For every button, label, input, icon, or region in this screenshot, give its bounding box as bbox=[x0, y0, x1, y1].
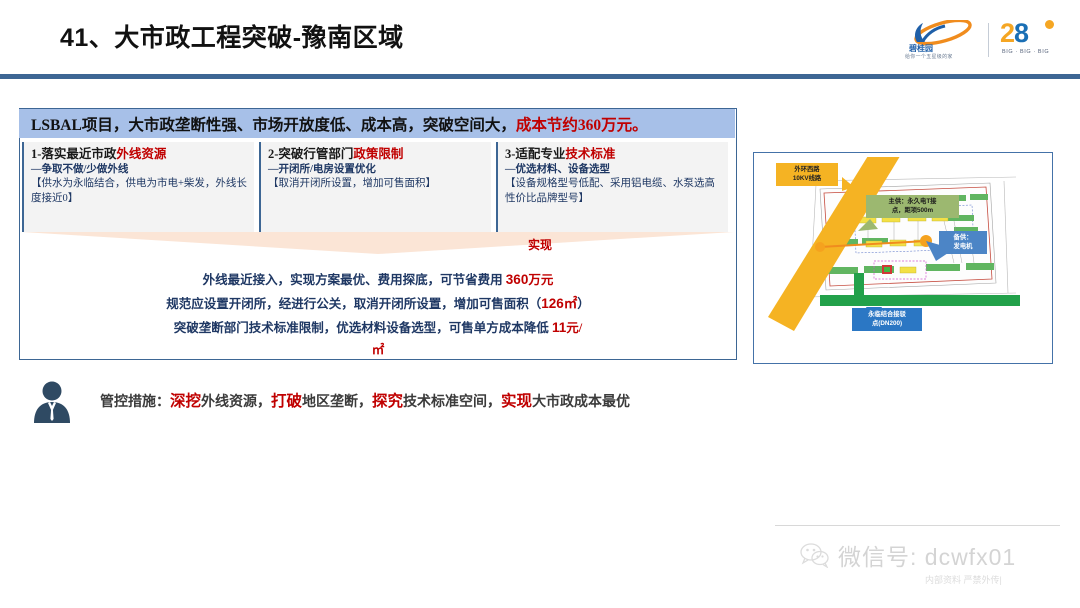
column-heading-plain: 1-落实最近市政 bbox=[31, 147, 116, 161]
mark-tag: BIG · BIG · BIG bbox=[1002, 49, 1049, 55]
column-subtitle: —开闭所/电房设置优化 bbox=[268, 162, 485, 177]
result-number: 360 bbox=[506, 272, 529, 287]
wechat-icon bbox=[800, 542, 830, 568]
result-line: ㎡ bbox=[22, 340, 734, 362]
watermark-divider bbox=[775, 525, 1060, 526]
wechat-id: 微信号: dcwfx01 bbox=[838, 538, 1016, 572]
column-body: 【供水为永临结合，供电为市电+柴发，外线长度接近0】 bbox=[31, 177, 248, 207]
achieve-results: 外线最近接入，实现方案最优、费用探底，可节省费用 360万元 规范应设置开闭所，… bbox=[22, 268, 734, 362]
column-body: 【取消开闭所设置，增加可售面积】 bbox=[268, 177, 485, 192]
column-body: 【设备规格型号低配、采用铝电缆、水泵选高性价比品牌型号】 bbox=[505, 177, 722, 207]
column-heading: 1-落实最近市政外线资源 bbox=[31, 146, 248, 162]
column-heading-plain: 2-突破行管部门 bbox=[268, 147, 353, 161]
degree-dot-icon bbox=[1045, 20, 1054, 29]
page-title: 41、大市政工程突破-豫南区域 bbox=[60, 22, 580, 56]
result-line: 外线最近接入，实现方案最优、费用探底，可节省费用 360万元 bbox=[22, 268, 734, 292]
result-unit: 万元 bbox=[528, 273, 553, 287]
column-heading: 3-适配专业技术标准 bbox=[505, 146, 722, 162]
measure-plain-1: 外线资源， bbox=[201, 395, 271, 410]
measures-columns: 1-落实最近市政外线资源 —争取不做/少做外线 【供水为永临结合，供电为市电+柴… bbox=[22, 142, 734, 232]
logo-brand-sub: 给你一个五星级的家 bbox=[905, 53, 953, 60]
column-heading: 2-突破行管部门政策限制 bbox=[268, 146, 485, 162]
result-text: 规范应设置开闭所，经进行公关，取消开闭所设置，增加可售面积（ bbox=[166, 297, 541, 311]
column-heading-plain: 3-适配专业 bbox=[505, 147, 565, 161]
measure-accent-4: 实现 bbox=[501, 393, 532, 410]
wechat-watermark: 微信号: dcwfx01 bbox=[800, 538, 1016, 572]
measure-accent-1: 深挖 bbox=[170, 393, 201, 410]
measure-column-1: 1-落实最近市政外线资源 —争取不做/少做外线 【供水为永临结合，供电为市电+柴… bbox=[22, 142, 254, 232]
callout-main-supply: 主供：永久电T接点，距项500m bbox=[866, 195, 959, 218]
column-subtitle: —优选材料、设备选型 bbox=[505, 162, 722, 177]
measure-plain-2: 地区垄断， bbox=[302, 395, 372, 410]
confidential-notice: 内部资料 严禁外传| bbox=[925, 573, 1002, 586]
logo-divider bbox=[988, 23, 989, 57]
result-unit: 元/ bbox=[566, 321, 582, 335]
result-text: 突破垄断部门技术标准限制，优选材料设备选型，可售单方成本降低 bbox=[174, 321, 552, 335]
column-heading-accent: 技术标准 bbox=[565, 147, 615, 161]
result-line: 突破垄断部门技术标准限制，优选材料设备选型，可售单方成本降低 11元/ bbox=[22, 316, 734, 340]
summary-banner: LSBAL项目，大市政垄断性强、市场开放度低、成本高，突破空间大，成本节约360… bbox=[19, 109, 735, 138]
callout-water-connection: 永临结合接驳点(DN200) bbox=[852, 308, 922, 331]
site-plan-image: 外环西路10KV线路 主供：永久电T接点，距项500m 备供：发电机 永临结合接… bbox=[753, 152, 1053, 364]
control-measures: 管控措施：深挖外线资源，打破地区垄断，探究技术标准空间，实现大市政成本最优 bbox=[100, 388, 800, 416]
banner-text-highlight: 成本节约360万元。 bbox=[516, 113, 648, 135]
businessman-icon bbox=[30, 378, 74, 426]
result-unit: ㎡ bbox=[372, 343, 385, 357]
measure-plain-4: 大市政成本最优 bbox=[532, 395, 630, 410]
measure-accent-3: 探究 bbox=[372, 393, 403, 410]
title-divider bbox=[0, 74, 1080, 79]
result-line: 规范应设置开闭所，经进行公关，取消开闭所设置，增加可售面积（126㎡） bbox=[22, 292, 734, 316]
country-garden-logo: 碧桂园 给你一个五星级的家 bbox=[901, 16, 979, 64]
banner-text-main: LSBAL项目，大市政垄断性强、市场开放度低、成本高，突破空间大， bbox=[31, 113, 516, 135]
brand-logo: 碧桂园 给你一个五星级的家 28 BIG · BIG · BIG bbox=[901, 14, 1058, 66]
column-subtitle: —争取不做/少做外线 bbox=[31, 162, 248, 177]
measure-accent-2: 打破 bbox=[271, 393, 302, 410]
result-text: 外线最近接入，实现方案最优、费用探底，可节省费用 bbox=[203, 273, 506, 287]
twenty-eight-mark: 28 BIG · BIG · BIG bbox=[998, 16, 1058, 64]
slide: 41、大市政工程突破-豫南区域 碧桂园 给你一个五星级的家 28 BIG · B… bbox=[0, 0, 1080, 608]
result-number: 11 bbox=[552, 320, 566, 335]
result-number: 126㎡ bbox=[541, 296, 577, 311]
measures-prefix: 管控措施： bbox=[100, 395, 170, 410]
result-unit: ） bbox=[577, 297, 590, 311]
callout-outer-ring-road: 外环西路10KV线路 bbox=[776, 163, 838, 186]
measure-column-3: 3-适配专业技术标准 —优选材料、设备选型 【设备规格型号低配、采用铝电缆、水泵… bbox=[496, 142, 728, 232]
mark-number: 28 bbox=[1000, 18, 1028, 49]
callout-backup-supply: 备供：发电机 bbox=[939, 231, 987, 254]
measure-plain-3: 技术标准空间， bbox=[403, 395, 501, 410]
column-heading-accent: 政策限制 bbox=[353, 147, 403, 161]
column-heading-accent: 外线资源 bbox=[116, 147, 166, 161]
measure-column-2: 2-突破行管部门政策限制 —开闭所/电房设置优化 【取消开闭所设置，增加可售面积… bbox=[259, 142, 491, 232]
